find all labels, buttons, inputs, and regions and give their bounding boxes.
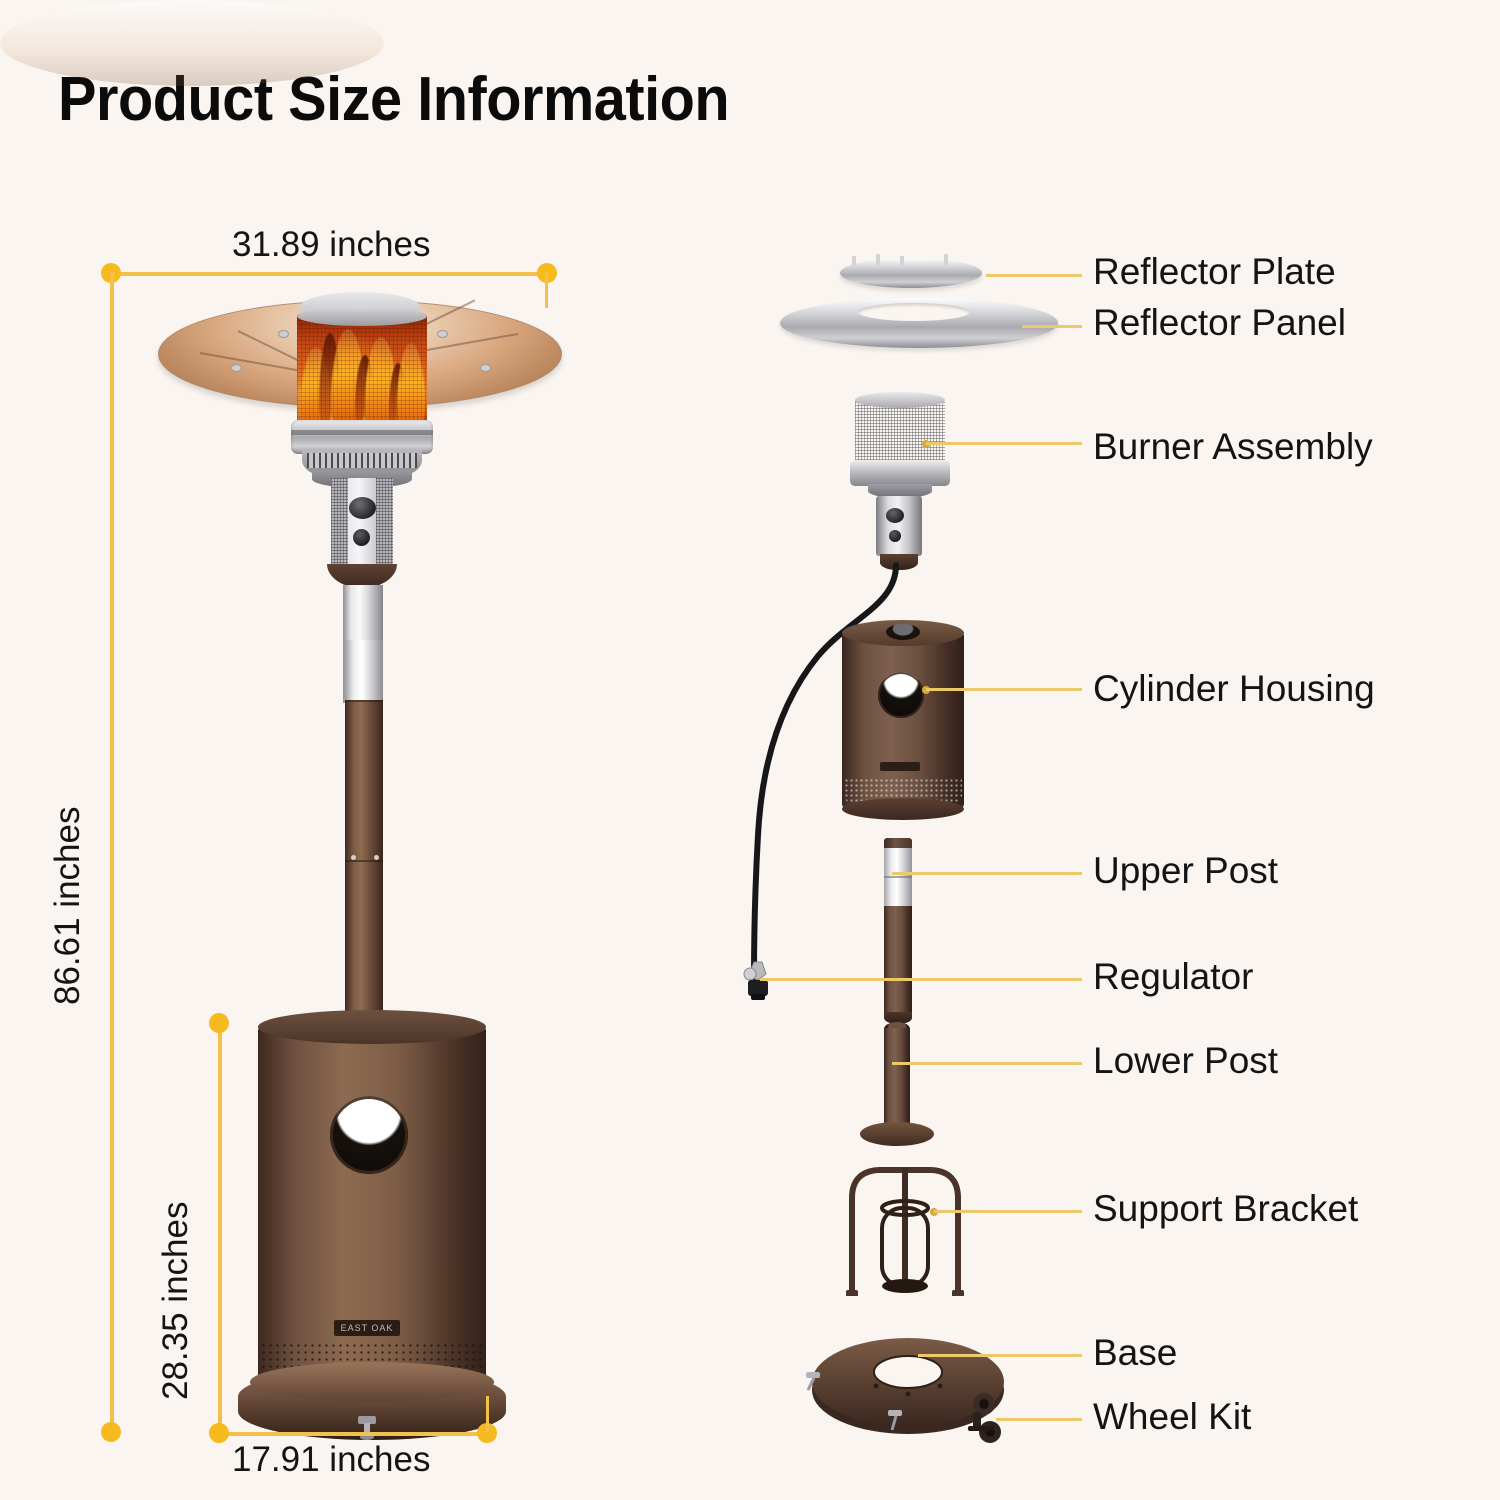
upper-post-chrome	[884, 848, 912, 912]
label-upper-post: Upper Post	[1093, 852, 1278, 889]
leader-regulator	[760, 978, 1082, 981]
leader-reflector-plate	[986, 274, 1082, 277]
burner-part-valve	[876, 496, 922, 556]
base-bolt	[356, 1414, 378, 1440]
dome-screw	[278, 330, 289, 338]
burner-mesh-screen	[855, 398, 945, 466]
valve-mesh-left	[331, 478, 348, 566]
dome-screw	[480, 364, 491, 372]
reflector-dome-highlight	[0, 0, 384, 86]
post-seam	[345, 700, 383, 702]
dimension-label-width-top: 31.89 inches	[232, 225, 430, 265]
leader-cylinder-housing	[926, 688, 1082, 691]
leader-base	[918, 1354, 1082, 1357]
post-pin	[374, 855, 379, 860]
base-ring-top	[250, 1362, 494, 1402]
dimension-label-width-base: 17.91 inches	[232, 1440, 430, 1480]
burner-part-collar	[850, 460, 950, 486]
reflector-panel-hole	[858, 303, 970, 321]
ignition-button	[353, 529, 370, 546]
dome-screw	[437, 330, 448, 338]
label-lower-post: Lower Post	[1093, 1042, 1278, 1079]
cylinder-housing-top	[258, 1010, 486, 1044]
leader-support-bracket	[934, 1210, 1082, 1213]
dimension-tick	[545, 272, 548, 308]
valve-mesh-right	[376, 478, 393, 566]
reflector-plate-stud	[852, 256, 856, 266]
label-burner-assembly: Burner Assembly	[1093, 428, 1373, 465]
dimension-dot	[209, 1013, 229, 1033]
support-bracket-part	[830, 1158, 980, 1296]
label-reflector-plate: Reflector Plate	[1093, 253, 1336, 290]
cylinder-housing-part-bottom	[842, 798, 964, 820]
control-knob	[349, 497, 376, 519]
dimension-line-height-base	[218, 1022, 222, 1432]
cylinder-housing-port	[330, 1096, 408, 1174]
cylinder-housing-part-opening	[886, 624, 920, 640]
flame-screen	[297, 315, 427, 429]
reflector-plate-stud	[900, 256, 904, 266]
product-size-information-page: Product Size Information	[0, 0, 1500, 1500]
cylinder-housing-part-badge	[880, 762, 920, 771]
leader-reflector-panel	[1022, 325, 1082, 328]
dimension-label-height-base: 28.35 inches	[156, 1202, 196, 1400]
leader-upper-post	[892, 872, 1082, 875]
dimension-label-height-total: 86.61 inches	[48, 807, 88, 1005]
reflector-plate-stud	[876, 254, 880, 266]
label-regulator: Regulator	[1093, 958, 1253, 995]
brand-badge: EAST OAK	[334, 1320, 400, 1336]
post-pin	[351, 855, 356, 860]
cylinder-housing-part-port	[878, 672, 924, 718]
label-base: Base	[1093, 1334, 1177, 1371]
dimension-tick	[486, 1396, 489, 1432]
reflector-plate-stud	[944, 254, 948, 266]
dimension-line-width-base	[218, 1432, 486, 1436]
leader-lower-post	[892, 1062, 1082, 1065]
upper-post-brown	[884, 906, 912, 1018]
burner-part-knob	[886, 508, 904, 523]
reflector-plate-part	[840, 258, 982, 288]
dome-screw	[231, 364, 242, 372]
regulator-part	[736, 960, 782, 1014]
label-reflector-panel: Reflector Panel	[1093, 304, 1346, 341]
upper-post-seam	[884, 876, 912, 878]
burner-screen-top	[855, 392, 945, 408]
burner-part-button	[889, 530, 901, 542]
dimension-dot	[209, 1423, 229, 1443]
flame-screen-top-ring	[297, 306, 427, 326]
burner-collar-band	[291, 430, 433, 435]
dimension-line-width-top	[110, 272, 548, 276]
label-support-bracket: Support Bracket	[1093, 1190, 1358, 1227]
lower-post-tube	[884, 1028, 910, 1136]
dimension-line-height-total	[110, 272, 114, 1432]
leader-wheel-kit	[996, 1418, 1082, 1421]
lower-post-flange	[860, 1122, 934, 1146]
label-cylinder-housing: Cylinder Housing	[1093, 670, 1375, 707]
exploded-parts-view	[700, 0, 1120, 1500]
dimension-dot	[101, 1422, 121, 1442]
leader-burner-assembly	[926, 442, 1082, 445]
label-wheel-kit: Wheel Kit	[1093, 1398, 1251, 1435]
post-seam	[345, 860, 383, 862]
burner-collar	[291, 420, 433, 454]
